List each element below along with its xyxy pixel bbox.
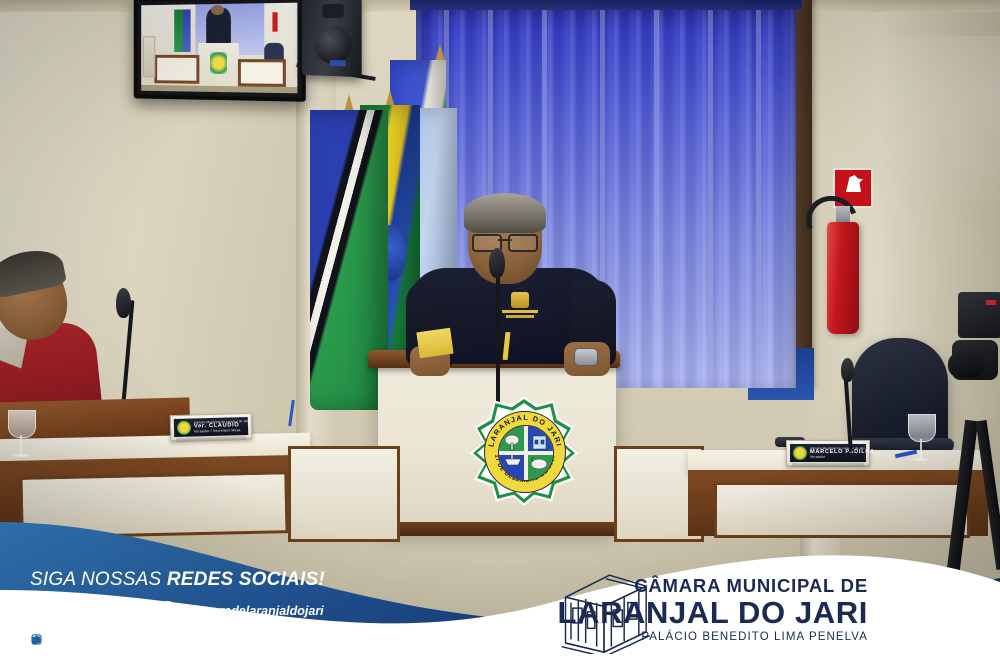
microphone-capsule — [116, 288, 131, 318]
tv-feed-flag — [174, 10, 183, 52]
tv-feed-flag — [183, 10, 191, 52]
tv-feed-side-panel — [143, 36, 155, 77]
glass-foot — [13, 454, 29, 457]
nameplate-right-stand — [792, 463, 864, 467]
desk-right-panel — [714, 482, 970, 538]
cable-coil — [59, 424, 115, 436]
nameplate-right-line1: Câmara Municipal de Laranjal do Jari — [810, 447, 875, 450]
tv-feed-desk-right — [237, 59, 285, 87]
television-screen — [141, 3, 297, 94]
shirt-embroidered-logo — [502, 292, 538, 322]
curtain-fold — [654, 0, 659, 388]
curtain-fold — [756, 0, 761, 388]
nameplate-left-text: Câmara Municipal de Laranjal do Jari Ver… — [194, 420, 252, 434]
shirt-logo-line — [506, 315, 534, 318]
extinguisher-pictogram-icon — [842, 174, 864, 192]
podium-microphone-capsule — [489, 248, 505, 278]
coat-of-arms-shield — [498, 425, 554, 481]
session-photograph: LARANJAL DO JARI 17 DE DEZEMBRO DE 1987 — [0, 0, 1000, 662]
tv-feed-coat-of-arms — [210, 52, 227, 75]
podium-base-trim — [372, 522, 622, 536]
nameplate-seal-icon — [177, 421, 191, 435]
video-camera — [958, 292, 1000, 338]
municipal-coat-of-arms: LARANJAL DO JARI 17 DE DEZEMBRO DE 1987 — [470, 396, 578, 506]
nameplate-seal-icon — [793, 446, 807, 460]
shield-cross-horizontal — [499, 451, 553, 455]
tv-feed-desk-left — [155, 55, 200, 84]
curtain-fold — [708, 0, 713, 388]
speaker-tweeter — [322, 4, 343, 19]
desk-center-left-panel — [288, 446, 400, 542]
wall-television — [134, 0, 306, 102]
tv-feed-floor — [141, 85, 297, 94]
shirt-logo-emblem — [511, 292, 529, 308]
nameplate-left-face: Câmara Municipal de Laranjal do Jari Ver… — [174, 417, 248, 437]
nameplate-right-line3: Vereador — [810, 456, 875, 460]
eyeglasses-icon — [472, 234, 538, 248]
wristwatch — [574, 348, 598, 366]
screenshot-root: LARANJAL DO JARI 17 DE DEZEMBRO DE 1987 — [0, 0, 1000, 662]
coat-of-arms-ring: LARANJAL DO JARI 17 DE DEZEMBRO DE 1987 — [484, 411, 566, 493]
tv-feed-extinguisher — [272, 12, 278, 32]
desk-left-panel — [19, 471, 288, 539]
yellow-document — [416, 328, 453, 358]
camera-record-indicator — [986, 300, 996, 305]
camera-lens — [948, 352, 984, 378]
glass-foot — [913, 458, 929, 461]
pa-speaker — [302, 0, 362, 77]
curtain-rod — [410, 0, 802, 10]
speaker-woofer — [315, 26, 352, 65]
right-microphone-capsule — [841, 358, 854, 382]
glass-bowl — [908, 414, 936, 442]
glass-bowl — [8, 410, 36, 438]
shirt-logo-line — [502, 310, 538, 313]
nameplate-right-text: Câmara Municipal de Laranjal do Jari MAR… — [810, 447, 878, 460]
glass-stem — [920, 439, 922, 459]
glass-stem — [20, 435, 22, 455]
fire-extinguisher — [827, 222, 859, 334]
nameplate-left-line3: Vereador / Secretário Mesa — [194, 429, 249, 434]
speaker-badge — [330, 60, 346, 66]
speaker-hair — [464, 193, 546, 233]
nameplate-right-face: Câmara Municipal de Laranjal do Jari MAR… — [790, 444, 866, 462]
eyeglasses-bridge — [498, 239, 512, 241]
